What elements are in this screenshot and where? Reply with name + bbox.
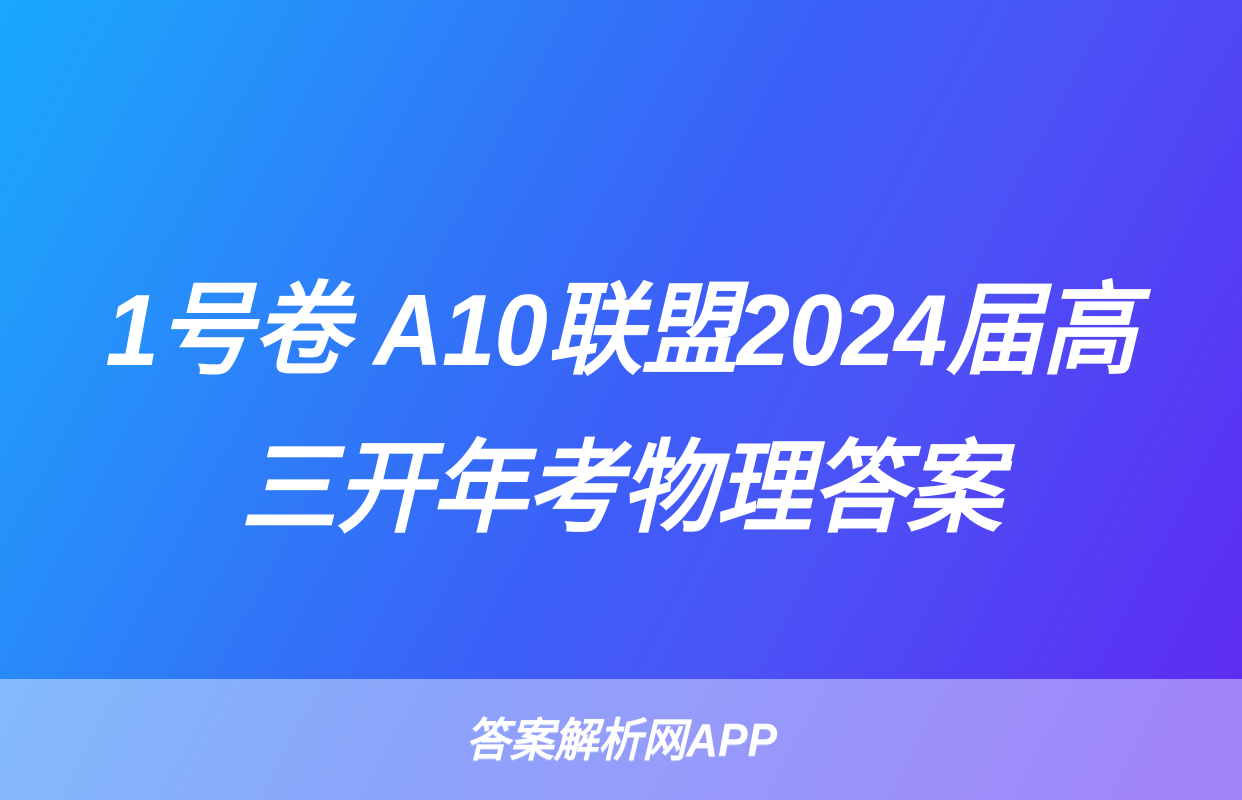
poster-canvas: 1号卷 A10联盟2024届高 三开年考物理答案 答案解析网APP — [0, 0, 1242, 800]
page-title: 1号卷 A10联盟2024届高 三开年考物理答案 — [0, 252, 1242, 568]
title-line-2: 三开年考物理答案 — [54, 410, 1188, 568]
title-line-1: 1号卷 A10联盟2024届高 — [54, 252, 1188, 410]
watermark-band: 答案解析网APP — [0, 679, 1242, 800]
watermark-app-label: 答案解析网APP — [465, 717, 777, 763]
